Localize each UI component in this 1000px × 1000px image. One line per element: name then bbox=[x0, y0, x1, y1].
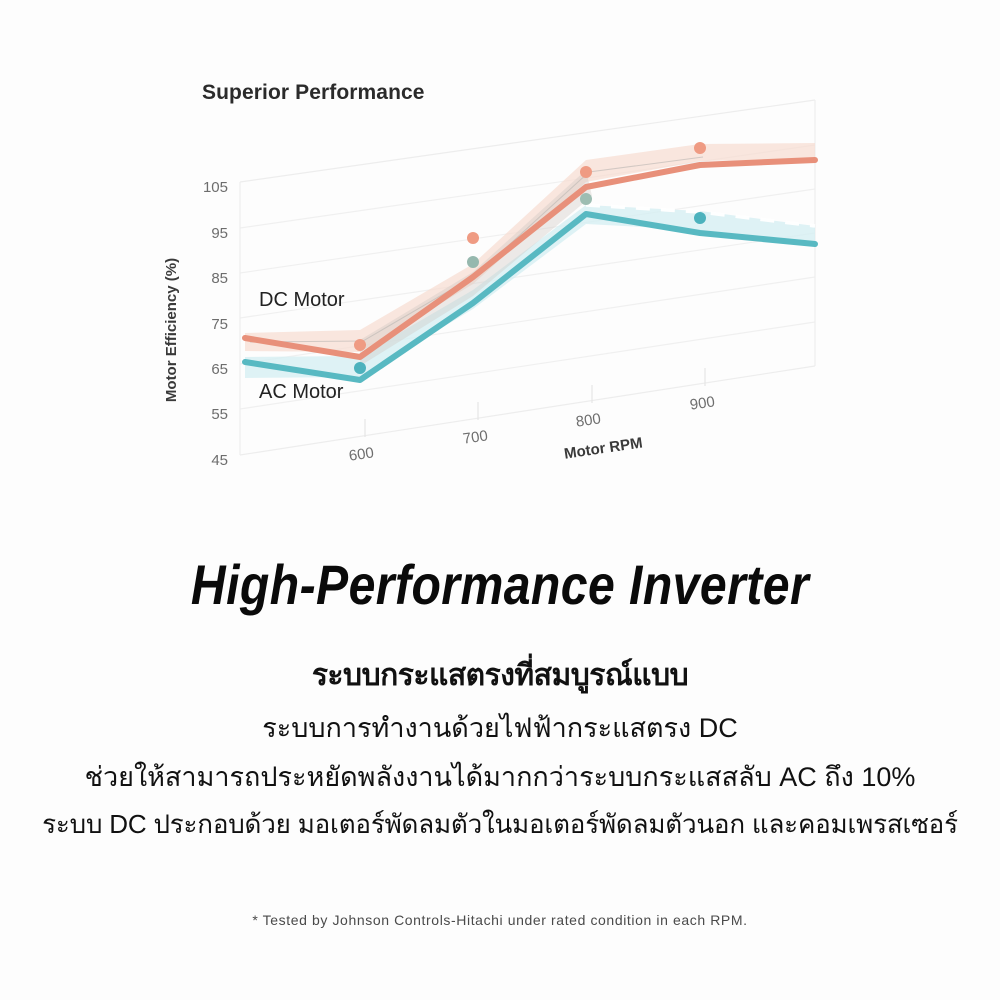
x-tick-900: 900 bbox=[689, 393, 716, 413]
y-tick-45: 45 bbox=[211, 452, 228, 469]
performance-chart-block: Superior Performance bbox=[0, 0, 1000, 500]
y-tick-85: 85 bbox=[211, 270, 228, 287]
body-line-2: ระบบการทำงานด้วยไฟฟ้ากระแสตรง DC bbox=[0, 706, 1000, 749]
x-tick-600: 600 bbox=[348, 444, 375, 464]
page-title: High-Performance Inverter bbox=[70, 552, 930, 617]
y-tick-65: 65 bbox=[211, 361, 228, 378]
y-tick-95: 95 bbox=[211, 225, 228, 242]
x-tick-700: 700 bbox=[462, 427, 489, 447]
body-line-4: ระบบ DC ประกอบด้วย มอเตอร์พัดลมตัวในมอเต… bbox=[0, 804, 1000, 845]
chart-svg: 105 95 85 75 65 55 45 Motor Efficiency (… bbox=[0, 0, 1000, 500]
y-tick-75: 75 bbox=[211, 316, 228, 333]
dc-motor-label: DC Motor bbox=[259, 289, 345, 311]
y-axis-title: Motor Efficiency (%) bbox=[163, 258, 180, 402]
x-tick-800: 800 bbox=[575, 410, 602, 430]
y-axis-ticks: 105 95 85 75 65 55 45 bbox=[203, 179, 228, 469]
ac-motor-label: AC Motor bbox=[259, 381, 344, 403]
x-axis-title: Motor RPM bbox=[563, 434, 644, 462]
y-tick-55: 55 bbox=[211, 406, 228, 423]
y-tick-105: 105 bbox=[203, 179, 228, 196]
x-axis-ticks: 600 700 800 900 bbox=[348, 393, 716, 464]
dc-marker-guide-line bbox=[250, 157, 703, 342]
body-line-1: ระบบกระแสตรงที่สมบูรณ์แบบ bbox=[0, 652, 1000, 699]
body-line-3: ช่วยให้สามารถประหยัดพลังงานได้มากกว่าระบ… bbox=[0, 755, 1000, 798]
footnote: * Tested by Johnson Controls-Hitachi und… bbox=[0, 912, 1000, 928]
